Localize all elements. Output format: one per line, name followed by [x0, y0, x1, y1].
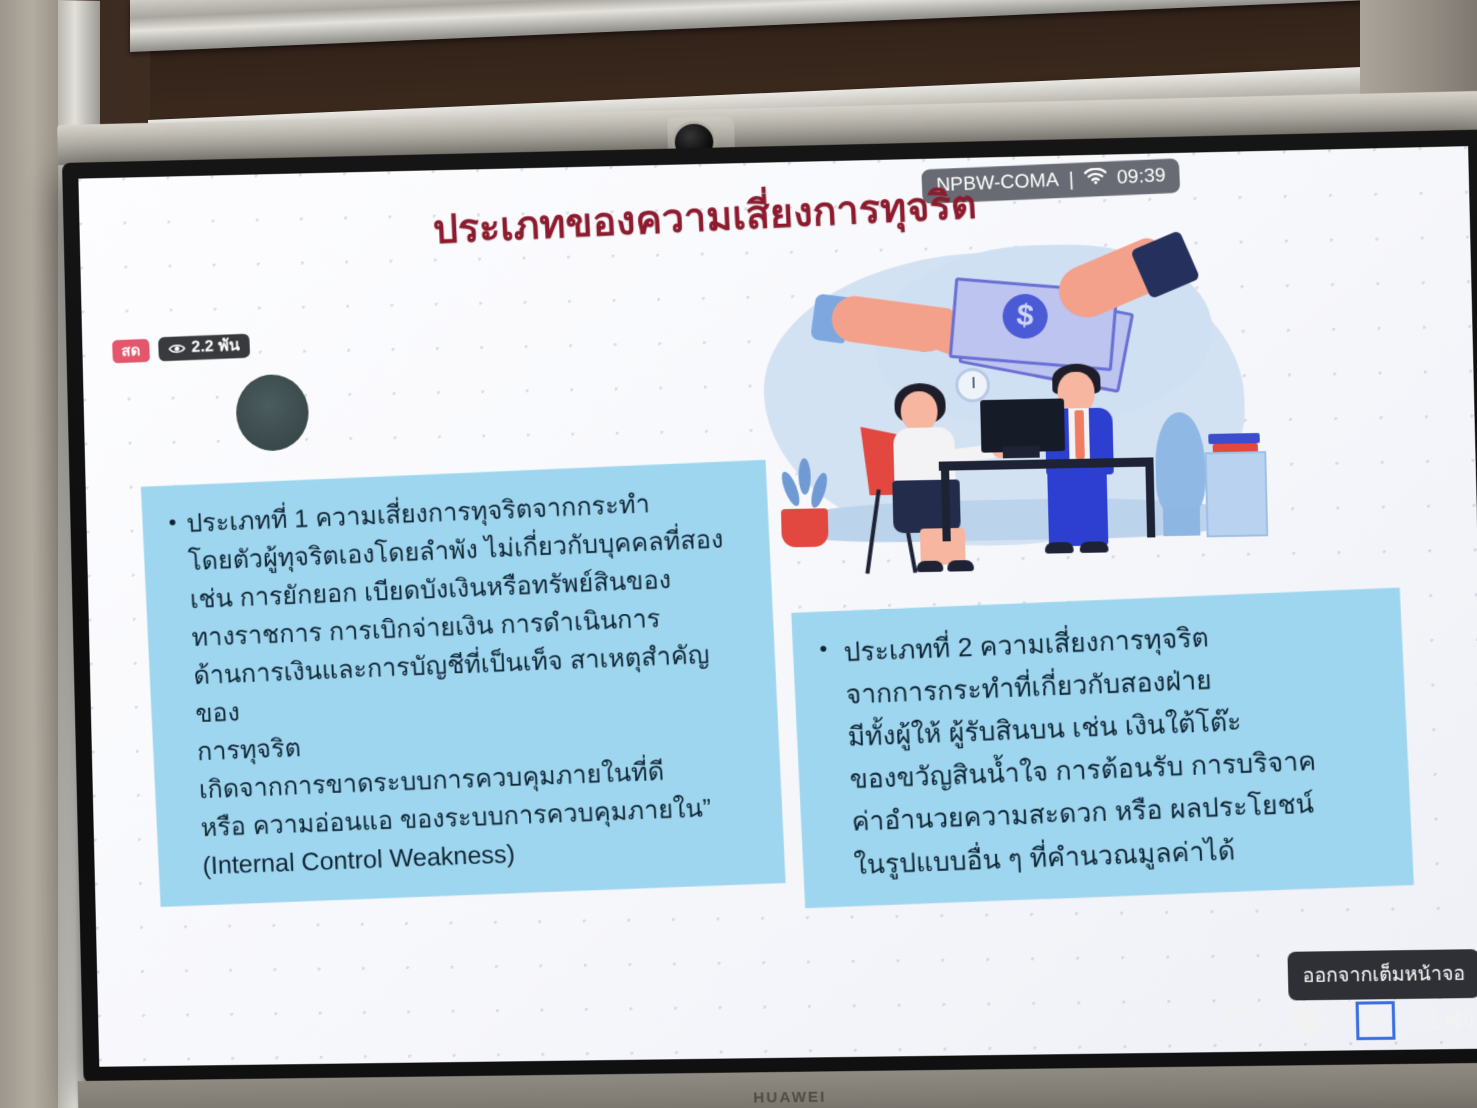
person-woman-head: [900, 391, 938, 432]
content-block-2-text: ประเภทที่ 2 ความเสี่ยงการทุจริต จากการกร…: [837, 612, 1322, 886]
huawei-display: NPBW-COMA | 09:39: [62, 129, 1477, 1083]
shoe: [1080, 541, 1109, 553]
viewer-count-badge: 2.2 พัน: [158, 334, 250, 362]
player-controls[interactable]: 1: [1224, 1000, 1475, 1042]
content-block-type-2: • ประเภทที่ 2 ความเสี่ยงการทุจริต จากการ…: [791, 588, 1414, 908]
monitor-stand: [1003, 445, 1040, 458]
monitor-icon: [980, 398, 1065, 452]
live-badge: สด: [112, 338, 150, 363]
content-block-1-text: ประเภทที่ 1 ความเสี่ยงการทุจริตจากกระทำ …: [186, 481, 759, 885]
status-separator: |: [1068, 169, 1074, 191]
person-woman-skirt: [892, 479, 961, 533]
desk-leg: [1145, 466, 1155, 537]
person-man-legs: [1047, 470, 1108, 546]
presenter-avatar: [235, 374, 309, 452]
brand-label: HUAWEI: [753, 1088, 827, 1106]
shoe: [917, 561, 944, 573]
office-plant-pot: [1163, 507, 1201, 536]
room-scene: NPBW-COMA | 09:39: [0, 0, 1477, 1108]
exit-fullscreen-icon[interactable]: [1355, 1001, 1395, 1040]
person-man-tie: [1074, 410, 1084, 459]
display-bezel: NPBW-COMA | 09:39: [62, 129, 1477, 1083]
wifi-icon: [1084, 168, 1108, 191]
live-indicator-row: สด 2.2 พัน: [112, 334, 250, 364]
gear-icon[interactable]: [1290, 1004, 1326, 1039]
cabinet: [1205, 451, 1269, 537]
clapperboard-icon[interactable]: [1224, 1005, 1260, 1040]
presentation-slide: NPBW-COMA | 09:39: [78, 146, 1477, 1067]
content-block-type-1: • ประเภทที่ 1 ความเสี่ยงการทุจริตจากกระท…: [141, 460, 786, 907]
eye-icon: [168, 342, 186, 355]
desk-leg: [941, 471, 951, 542]
screen: NPBW-COMA | 09:39: [78, 146, 1477, 1067]
clock-time: 09:39: [1116, 165, 1166, 189]
volume-level: 1: [1426, 1004, 1442, 1036]
volume-icon[interactable]: 1: [1426, 1004, 1475, 1036]
shoe: [1045, 542, 1074, 554]
exit-fullscreen-tooltip: ออกจากเต็มหน้าจอ: [1288, 949, 1477, 1000]
plant-pot: [781, 508, 829, 547]
shoe: [947, 560, 974, 572]
viewer-count: 2.2 พัน: [191, 338, 240, 356]
bullet-icon: •: [819, 632, 839, 887]
bribery-office-illustration: $: [750, 240, 1268, 559]
